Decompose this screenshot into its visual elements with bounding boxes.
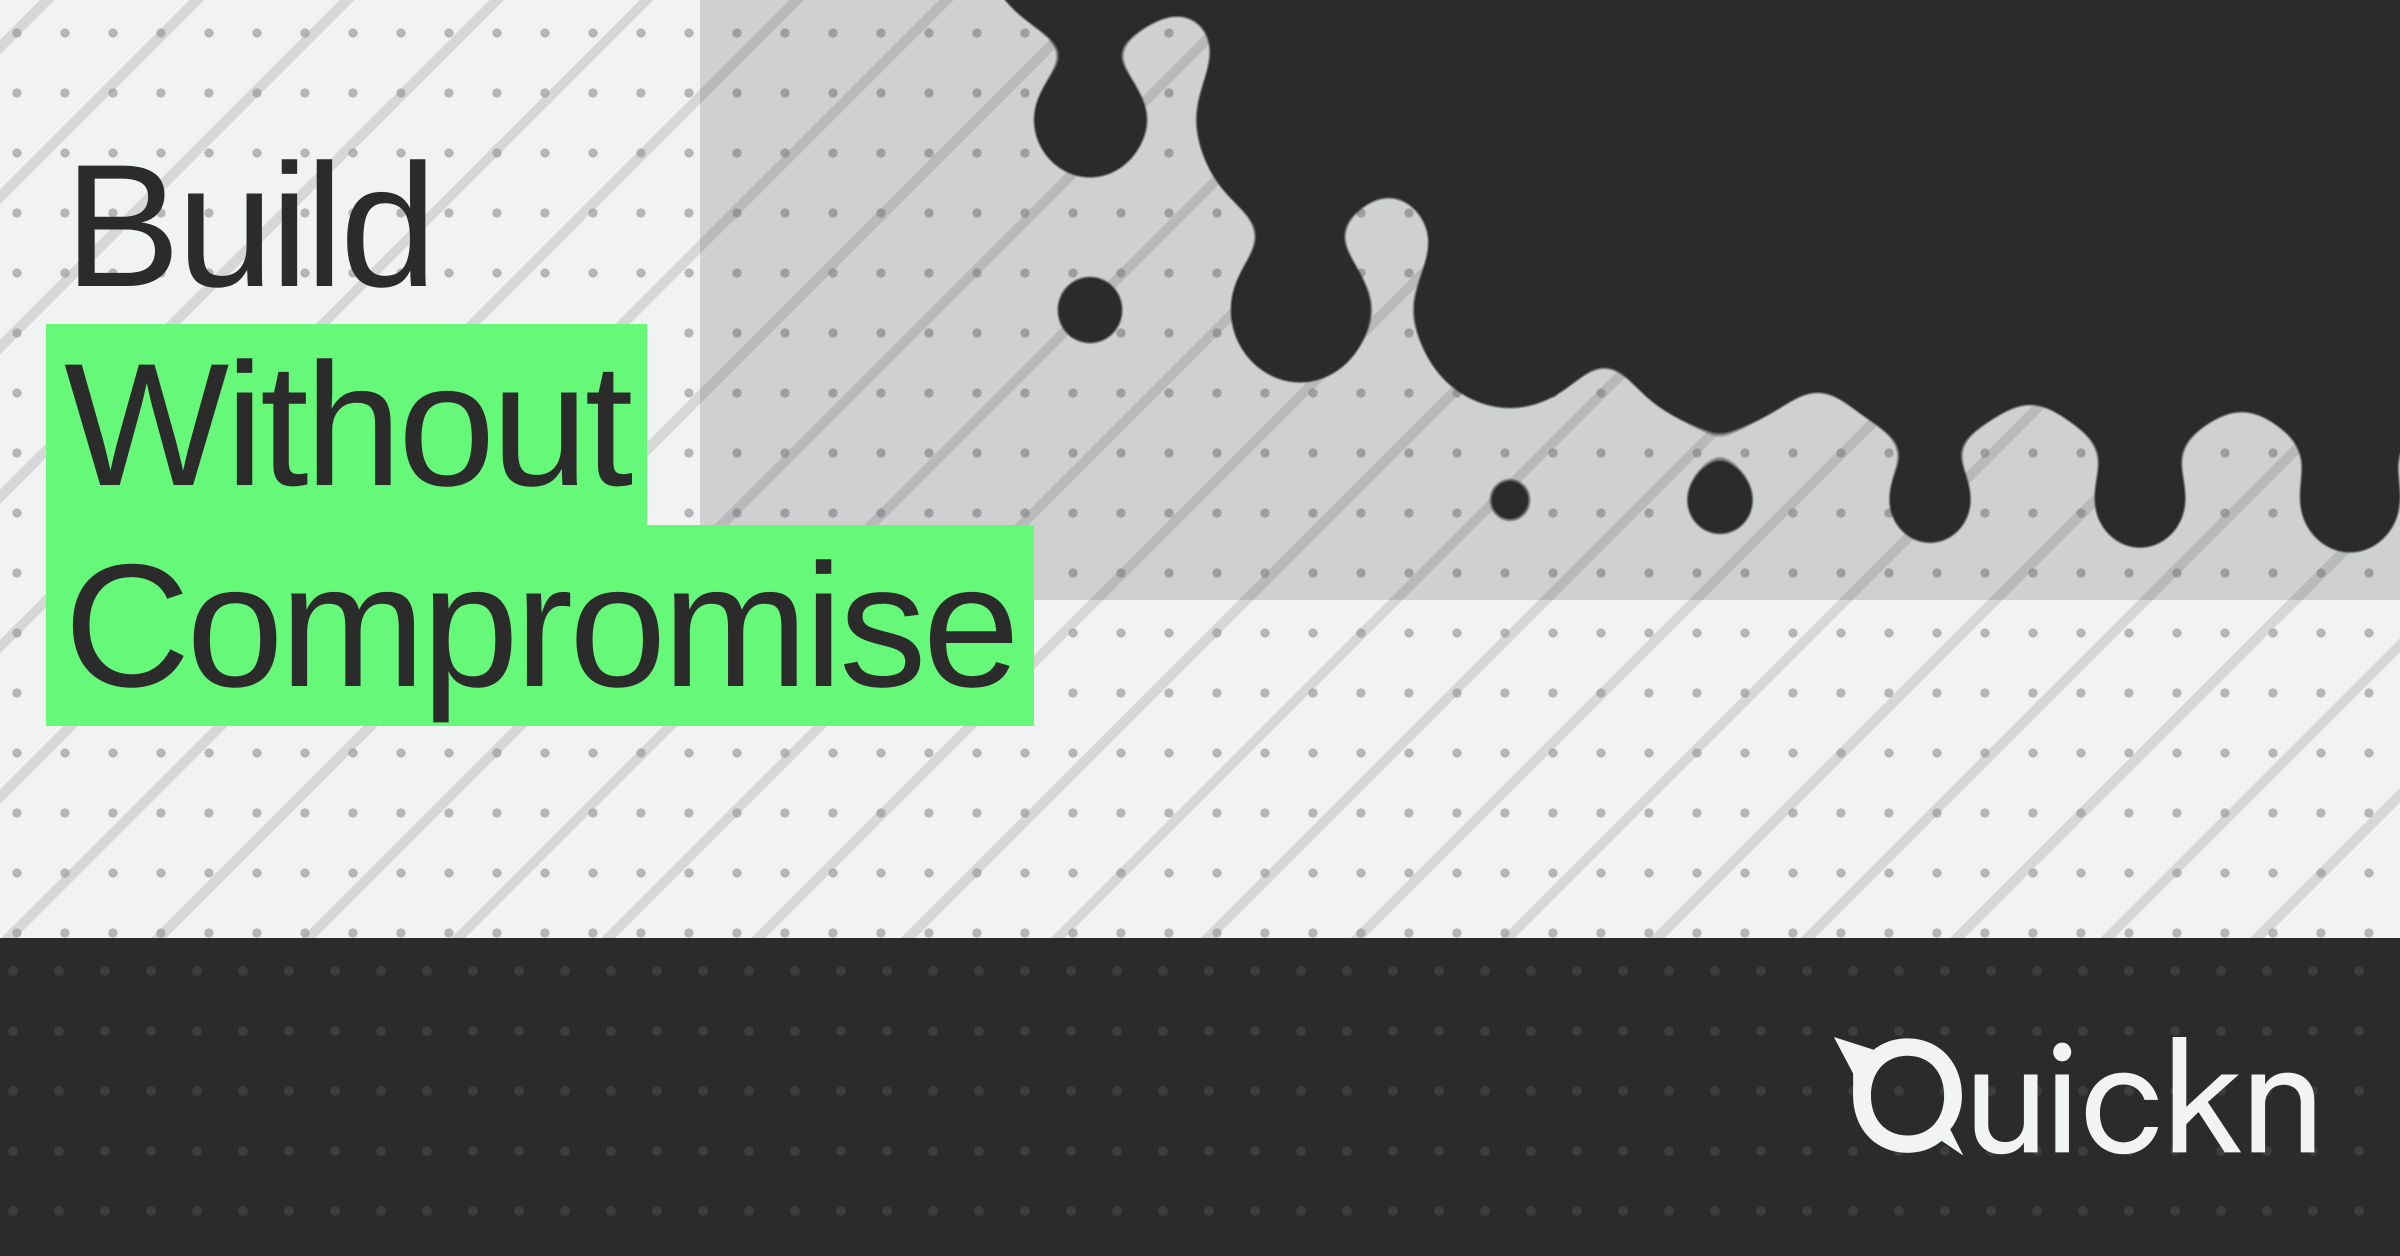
headline-line-1-text: Build <box>64 148 433 306</box>
headline: Build Without Compromise <box>64 148 1364 726</box>
banner-canvas: Build Without Compromise Quicknode <box>0 0 2400 1256</box>
headline-line-1: Build <box>64 148 1364 306</box>
headline-line-3-text: Compromise <box>46 525 1034 726</box>
headline-line-3: Compromise <box>64 525 1364 726</box>
footer-bar: Quicknode <box>0 938 2400 1256</box>
hero-section: Build Without Compromise <box>0 0 2400 938</box>
headline-line-2-text: Without <box>46 324 647 525</box>
quicknode-logo[interactable]: Quicknode <box>1832 1017 2320 1177</box>
headline-line-2: Without <box>64 324 1364 525</box>
